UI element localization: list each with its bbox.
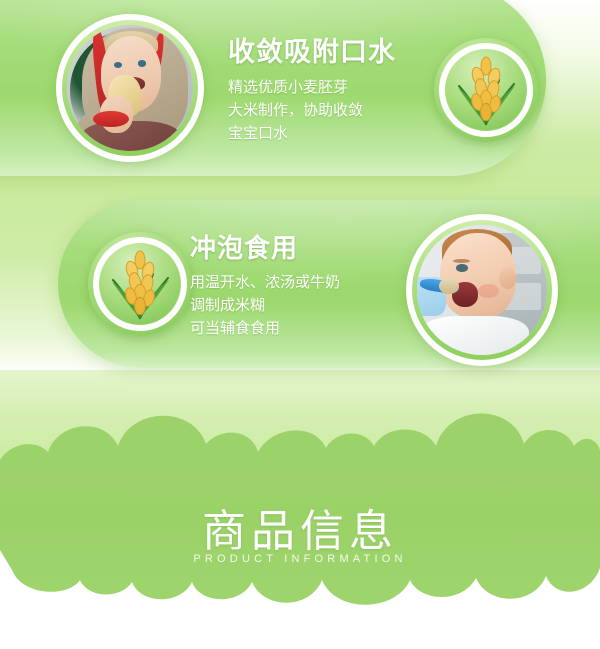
feature-body-line: 大米制作，协助收敛 <box>228 100 396 123</box>
photo-inner <box>417 225 547 355</box>
feature-body-line: 可当辅食食用 <box>190 318 340 341</box>
wheat-icon <box>434 38 538 142</box>
feature-text-brew-and-eat: 冲泡食用 用温开水、浓汤或牛奶 调制成米糊 可当辅食食用 <box>190 228 340 340</box>
feature-body-line: 精选优质小麦胚芽 <box>228 77 396 100</box>
feature-text-absorb-saliva: 收敛吸附口水 精选优质小麦胚芽 大米制作，协助收敛 宝宝口水 <box>228 30 396 145</box>
page-title-product-information: 商品信息 <box>0 495 600 559</box>
feature-body-line: 调制成米糊 <box>190 295 340 318</box>
feature-photo-baby-being-fed <box>406 214 558 366</box>
wheat-icon-ring <box>93 237 187 331</box>
wheat-icon <box>88 232 192 336</box>
wheat-icon-ring <box>439 43 533 137</box>
feature-body: 用温开水、浓汤或牛奶 调制成米糊 可当辅食食用 <box>190 272 340 340</box>
feature-title: 收敛吸附口水 <box>228 30 396 69</box>
photo-inner <box>67 25 193 151</box>
feature-photo-baby-eating-biscuit <box>56 14 204 162</box>
page-subtitle-product-information: PRODUCT INFORMATION <box>0 553 600 565</box>
feature-body-line: 宝宝口水 <box>228 123 396 146</box>
feature-body: 精选优质小麦胚芽 大米制作，协助收敛 宝宝口水 <box>228 77 396 145</box>
product-detail-page: 收敛吸附口水 精选优质小麦胚芽 大米制作，协助收敛 宝宝口水 <box>0 0 600 649</box>
feature-title: 冲泡食用 <box>190 228 340 265</box>
feature-body-line: 用温开水、浓汤或牛奶 <box>190 272 340 295</box>
